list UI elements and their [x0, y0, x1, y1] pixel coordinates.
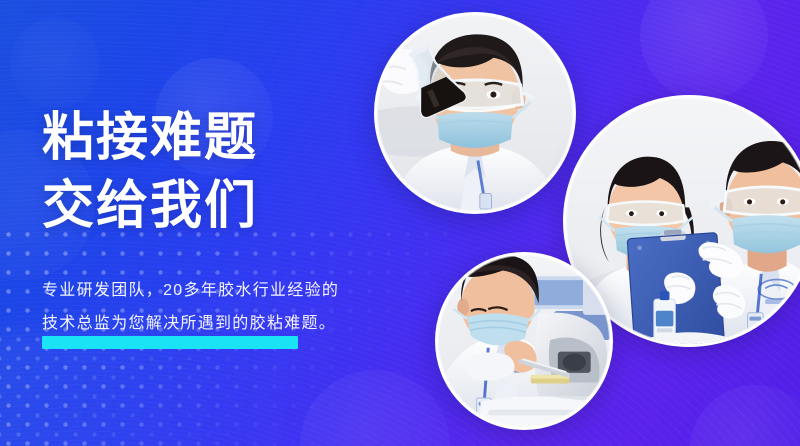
- banner-copy: 粘接难题 交给我们 专业研发团队，20多年胶水行业经验的 技术总监为您解决所遇到…: [42, 104, 372, 240]
- subtitle-line-1: 专业研发团队，20多年胶水行业经验的: [42, 274, 339, 307]
- bokeh-circle-icon: [300, 370, 450, 446]
- photo-scientist-holding-flask: [374, 12, 576, 214]
- page-title: 粘接难题 交给我们: [42, 104, 372, 240]
- headline-line-2: 交给我们: [42, 172, 372, 240]
- subtitle-line-2: 技术总监为您解决所遇到的胶粘难题。: [42, 307, 339, 340]
- bokeh-circle-icon: [640, 0, 768, 100]
- headline-line-1: 粘接难题: [42, 104, 372, 172]
- promo-banner: 粘接难题 交给我们 专业研发团队，20多年胶水行业经验的 技术总监为您解决所遇到…: [0, 0, 800, 446]
- bokeh-circle-icon: [10, 18, 100, 108]
- bokeh-circle-icon: [690, 385, 800, 446]
- photo-technician-operating-equipment: [435, 252, 613, 430]
- banner-subtitle: 专业研发团队，20多年胶水行业经验的 技术总监为您解决所遇到的胶粘难题。: [42, 274, 339, 340]
